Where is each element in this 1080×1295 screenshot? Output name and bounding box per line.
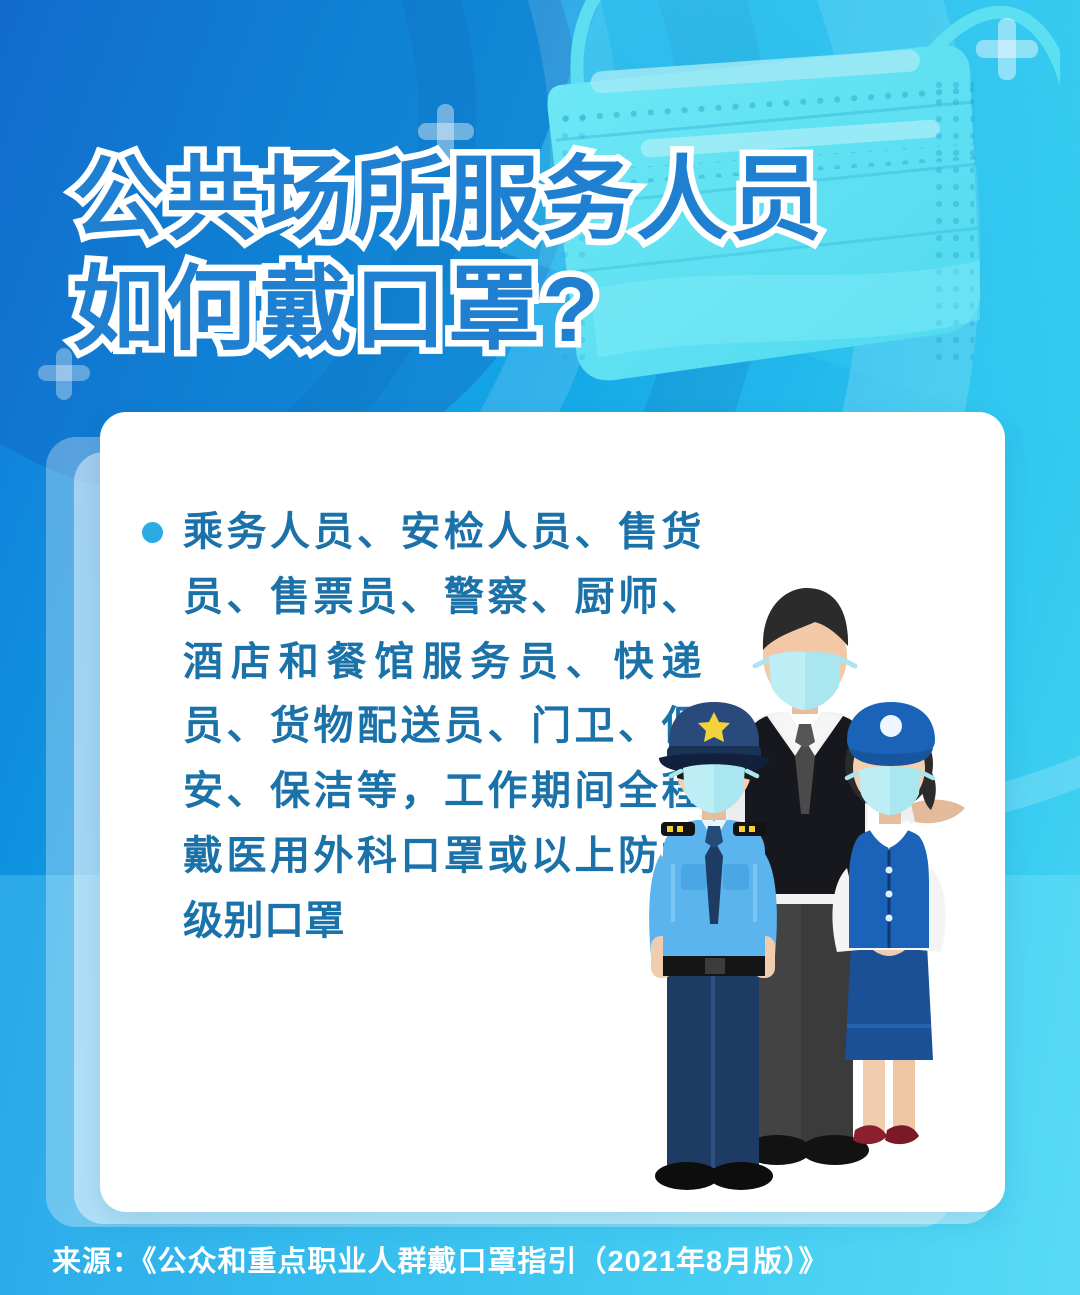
police-officer-figure [649, 702, 777, 1190]
bullet-item: 乘务人员、安检人员、售货员、售票员、警察、厨师、酒店和餐馆服务员、快递员、货物配… [142, 500, 702, 954]
page-title: 公共场所服务人员 如何戴口罩? [72, 148, 824, 364]
people-icon [639, 564, 979, 1204]
poster-root: 公共场所服务人员 如何戴口罩? 乘务人员、安检人员、售货员、售票员、警察、厨师、… [0, 0, 1080, 1295]
title-line-2: 如何戴口罩? [72, 258, 824, 364]
service-workers-illustration [639, 564, 979, 1204]
bullet-dot-icon [142, 522, 163, 543]
source-note: 来源：《公众和重点职业人群戴口罩指引（2021年8月版）》 [52, 1238, 829, 1280]
title-line-1: 公共场所服务人员 [72, 148, 824, 254]
content-card: 乘务人员、安检人员、售货员、售票员、警察、厨师、酒店和餐馆服务员、快递员、货物配… [100, 412, 1005, 1212]
bullet-text: 乘务人员、安检人员、售货员、售票员、警察、厨师、酒店和餐馆服务员、快递员、货物配… [183, 500, 702, 954]
plus-icon-top-right [976, 18, 1038, 80]
